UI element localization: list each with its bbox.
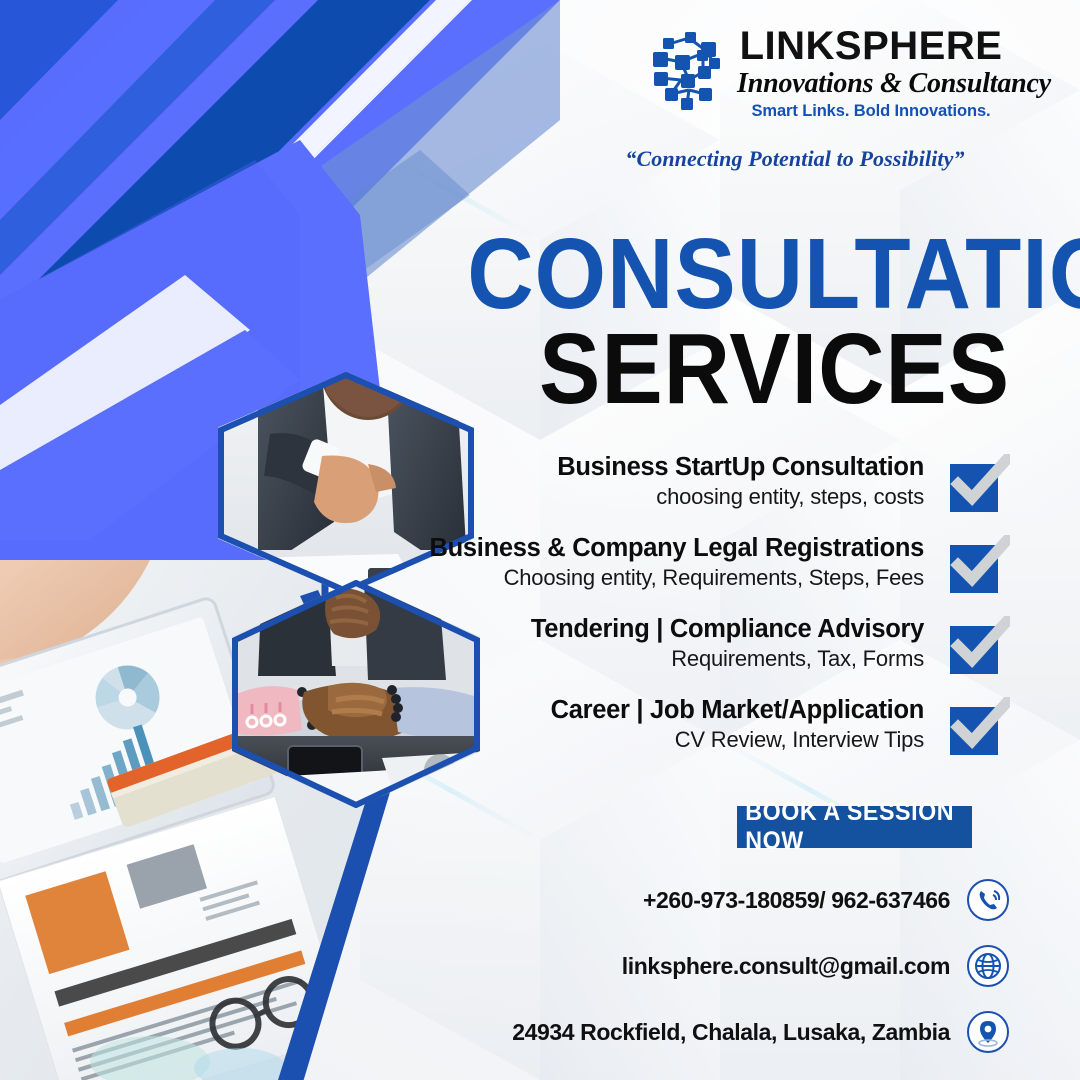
check-box-icon — [948, 616, 1010, 678]
check-box-icon — [948, 454, 1010, 516]
services-list: Business StartUp Consultation choosing e… — [400, 452, 1010, 776]
location-pin-icon — [966, 1010, 1010, 1054]
brand-logo: LINKSPHERE Innovations & Consultancy Sma… — [645, 24, 1005, 139]
brand-tagline: Smart Links. Bold Innovations. — [737, 101, 1005, 121]
check-box-icon — [948, 535, 1010, 597]
check-box-icon — [948, 697, 1010, 759]
service-item: Career | Job Market/Application CV Revie… — [400, 695, 1010, 754]
service-description: Requirements, Tax, Forms — [400, 645, 924, 673]
headline-line-2: SERVICES — [467, 320, 1010, 418]
email-address: linksphere.consult@gmail.com — [622, 952, 950, 980]
service-title: Business & Company Legal Registrations — [400, 533, 924, 564]
cta-label: BOOK A SESSION NOW — [745, 798, 964, 856]
contact-row-address[interactable]: 24934 Rockfield, Chalala, Lusaka, Zambia — [470, 1010, 1010, 1054]
service-description: CV Review, Interview Tips — [400, 726, 924, 754]
book-a-session-button[interactable]: BOOK A SESSION NOW — [737, 806, 972, 848]
brand-subtitle: Innovations & Consultancy — [737, 68, 1005, 100]
page-title: CONSULTATION SERVICES — [420, 228, 1010, 418]
brand-quote: “Connecting Potential to Possibility” — [560, 146, 1030, 172]
service-item: Tendering | Compliance Advisory Requirem… — [400, 614, 1010, 673]
contact-row-phone[interactable]: +260-973-180859/ 962-637466 — [470, 878, 1010, 922]
service-description: choosing entity, steps, costs — [400, 483, 924, 511]
service-item: Business StartUp Consultation choosing e… — [400, 452, 1010, 511]
globe-icon — [966, 944, 1010, 988]
phone-number: +260-973-180859/ 962-637466 — [643, 886, 950, 914]
service-title: Career | Job Market/Application — [400, 695, 924, 726]
service-title: Tendering | Compliance Advisory — [400, 614, 924, 645]
consultation-services-flyer: LINKSPHERE Innovations & Consultancy Sma… — [0, 0, 1080, 1080]
street-address: 24934 Rockfield, Chalala, Lusaka, Zambia — [512, 1018, 950, 1046]
contact-list: +260-973-180859/ 962-637466 linksphere.c… — [470, 878, 1010, 1076]
service-title: Business StartUp Consultation — [400, 452, 924, 483]
contact-row-email[interactable]: linksphere.consult@gmail.com — [470, 944, 1010, 988]
phone-icon — [966, 878, 1010, 922]
service-item: Business & Company Legal Registrations C… — [400, 533, 1010, 592]
service-description: Choosing entity, Requirements, Steps, Fe… — [400, 564, 924, 592]
brand-name: LINKSPHERE — [737, 24, 1005, 68]
headline-line-1: CONSULTATION — [467, 228, 1010, 320]
network-nodes-icon — [645, 28, 731, 114]
